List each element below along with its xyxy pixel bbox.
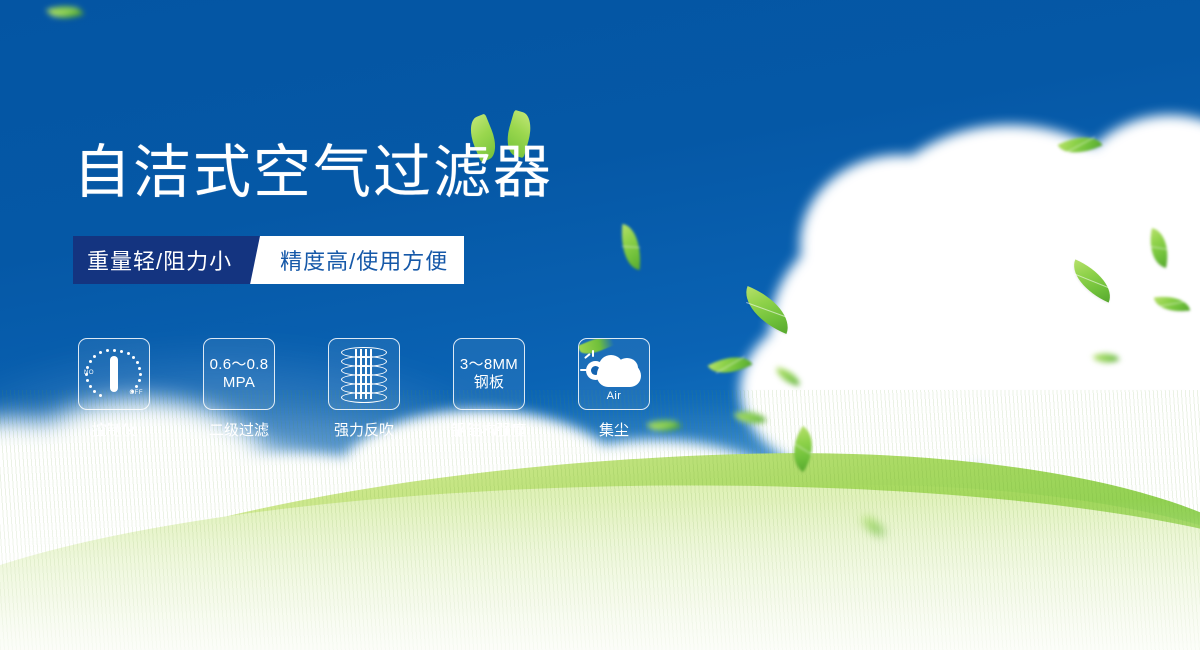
product-hero-banner: 自洁式空气过滤器 重量轻/阻力小 精度高/使用方便 (0, 0, 1200, 650)
page-title: 自洁式空气过滤器 (73, 144, 553, 202)
pressure-icon-line2: MPA (223, 374, 255, 392)
feature-icon-row: NO OFF 控制仪 0.6～0.8 MPA 二级过滤 (78, 338, 650, 440)
feature-item-steel-strength: 3～8MM 钢板 钢结构强度 (453, 338, 525, 440)
feature-item-backblow: 强力反吹 (328, 338, 400, 440)
pressure-icon-line1: 0.6～0.8 (210, 356, 269, 374)
feature-caption: 集尘 (599, 419, 629, 440)
filter-coil-icon (341, 347, 387, 401)
feature-caption: 控制仪 (91, 419, 136, 440)
feature-caption: 强力反吹 (334, 419, 394, 440)
tag-lightweight-lowresistance: 重量轻/阻力小 (73, 236, 250, 284)
feature-item-dust-collection: Air 集尘 (578, 338, 650, 440)
feature-item-secondary-filtration: 0.6～0.8 MPA 二级过滤 (203, 338, 275, 440)
feature-icon-box: Air (578, 338, 650, 410)
air-cloud-icon: Air (583, 349, 645, 399)
feature-icon-box: 3～8MM 钢板 (453, 338, 525, 410)
feature-icon-box: NO OFF (78, 338, 150, 410)
gauge-needle (110, 356, 118, 392)
gauge-icon: NO OFF (84, 346, 144, 402)
gauge-label-no: NO (84, 370, 94, 376)
feature-tag-group: 重量轻/阻力小 精度高/使用方便 (73, 236, 464, 284)
feature-caption: 钢结构强度 (452, 419, 527, 440)
feature-item-controller: NO OFF 控制仪 (78, 338, 150, 440)
tag-highprecision-easyuse: 精度高/使用方便 (276, 236, 464, 284)
steel-icon-line2: 钢板 (474, 374, 505, 392)
steel-icon-line1: 3～8MM (460, 356, 518, 374)
gauge-label-off: OFF (130, 390, 144, 396)
feature-caption: 二级过滤 (209, 419, 269, 440)
feature-icon-box: 0.6～0.8 MPA (203, 338, 275, 410)
air-label: Air (583, 390, 645, 402)
feature-icon-box (328, 338, 400, 410)
tag-divider (250, 236, 276, 284)
